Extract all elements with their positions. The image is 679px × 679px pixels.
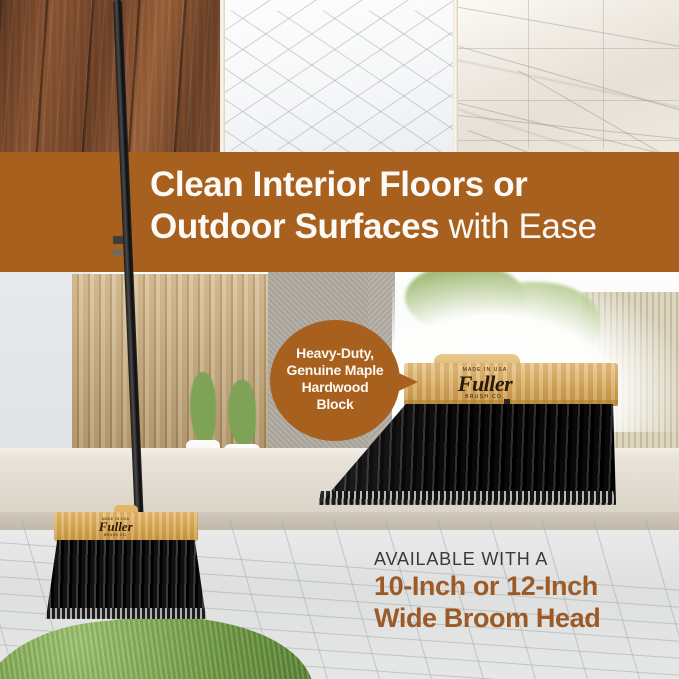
headline-text: Clean Interior Floors or Outdoor Surface… (150, 164, 670, 248)
broom-head-small: MADE IN USA Fuller BRUSH CO. (40, 512, 212, 620)
headline-line-2-bold: Outdoor Surfaces (150, 207, 439, 246)
bristle-tips-large (318, 491, 616, 505)
texture-line (458, 100, 679, 101)
texture-line (225, 0, 359, 151)
callout-line-4: Block (270, 396, 400, 413)
fuller-brand-text: Fuller (430, 373, 540, 394)
planter-foliage (190, 372, 216, 444)
texture-line (369, 0, 453, 151)
texture-line (225, 0, 451, 151)
product-marketing-image: Clean Interior Floors or Outdoor Surface… (0, 0, 679, 679)
texture-line (458, 5, 679, 58)
texture-line (603, 0, 604, 149)
texture-line (415, 10, 453, 153)
callout-line-2: Genuine Maple (270, 362, 400, 379)
broom-bristles-small (46, 540, 206, 618)
texture-line (323, 10, 453, 153)
bristle-tips-small (45, 608, 207, 619)
dark-hardwood-floor-panel (0, 0, 222, 153)
brush-co-text: BRUSH CO. (430, 394, 540, 400)
fuller-logo-small: MADE IN USA Fuller BRUSH CO. (99, 517, 133, 537)
texture-line (458, 140, 679, 141)
floor-types-strip (0, 0, 679, 153)
texture-line (231, 10, 453, 153)
texture-line (458, 55, 679, 119)
texture-line (528, 0, 529, 149)
broom-handle-clip (112, 250, 123, 255)
planter-foliage (228, 380, 256, 446)
size-availability-text: AVAILABLE WITH A 10-Inch or 12-Inch Wide… (374, 548, 674, 634)
white-tile-floor-panel (225, 0, 453, 153)
marble-floor-panel (458, 0, 679, 153)
callout-line-1: Heavy-Duty, (270, 345, 400, 362)
size-line-1: 10-Inch or 12-Inch (374, 570, 674, 602)
callout-text: Heavy-Duty, Genuine Maple Hardwood Block (270, 345, 400, 413)
size-line-2: Wide Broom Head (374, 602, 674, 634)
availability-eyebrow: AVAILABLE WITH A (374, 548, 674, 570)
headline-line-2-light: with Ease (439, 207, 596, 246)
callout-line-3: Hardwood (270, 379, 400, 396)
broom-handle-joint (113, 236, 123, 244)
fuller-logo-large: MADE IN USA Fuller BRUSH CO. (430, 367, 540, 400)
texture-line (458, 48, 679, 49)
texture-line (277, 0, 453, 151)
headline-line-1: Clean Interior Floors or (150, 165, 527, 204)
fuller-brand-text: Fuller (99, 521, 133, 533)
